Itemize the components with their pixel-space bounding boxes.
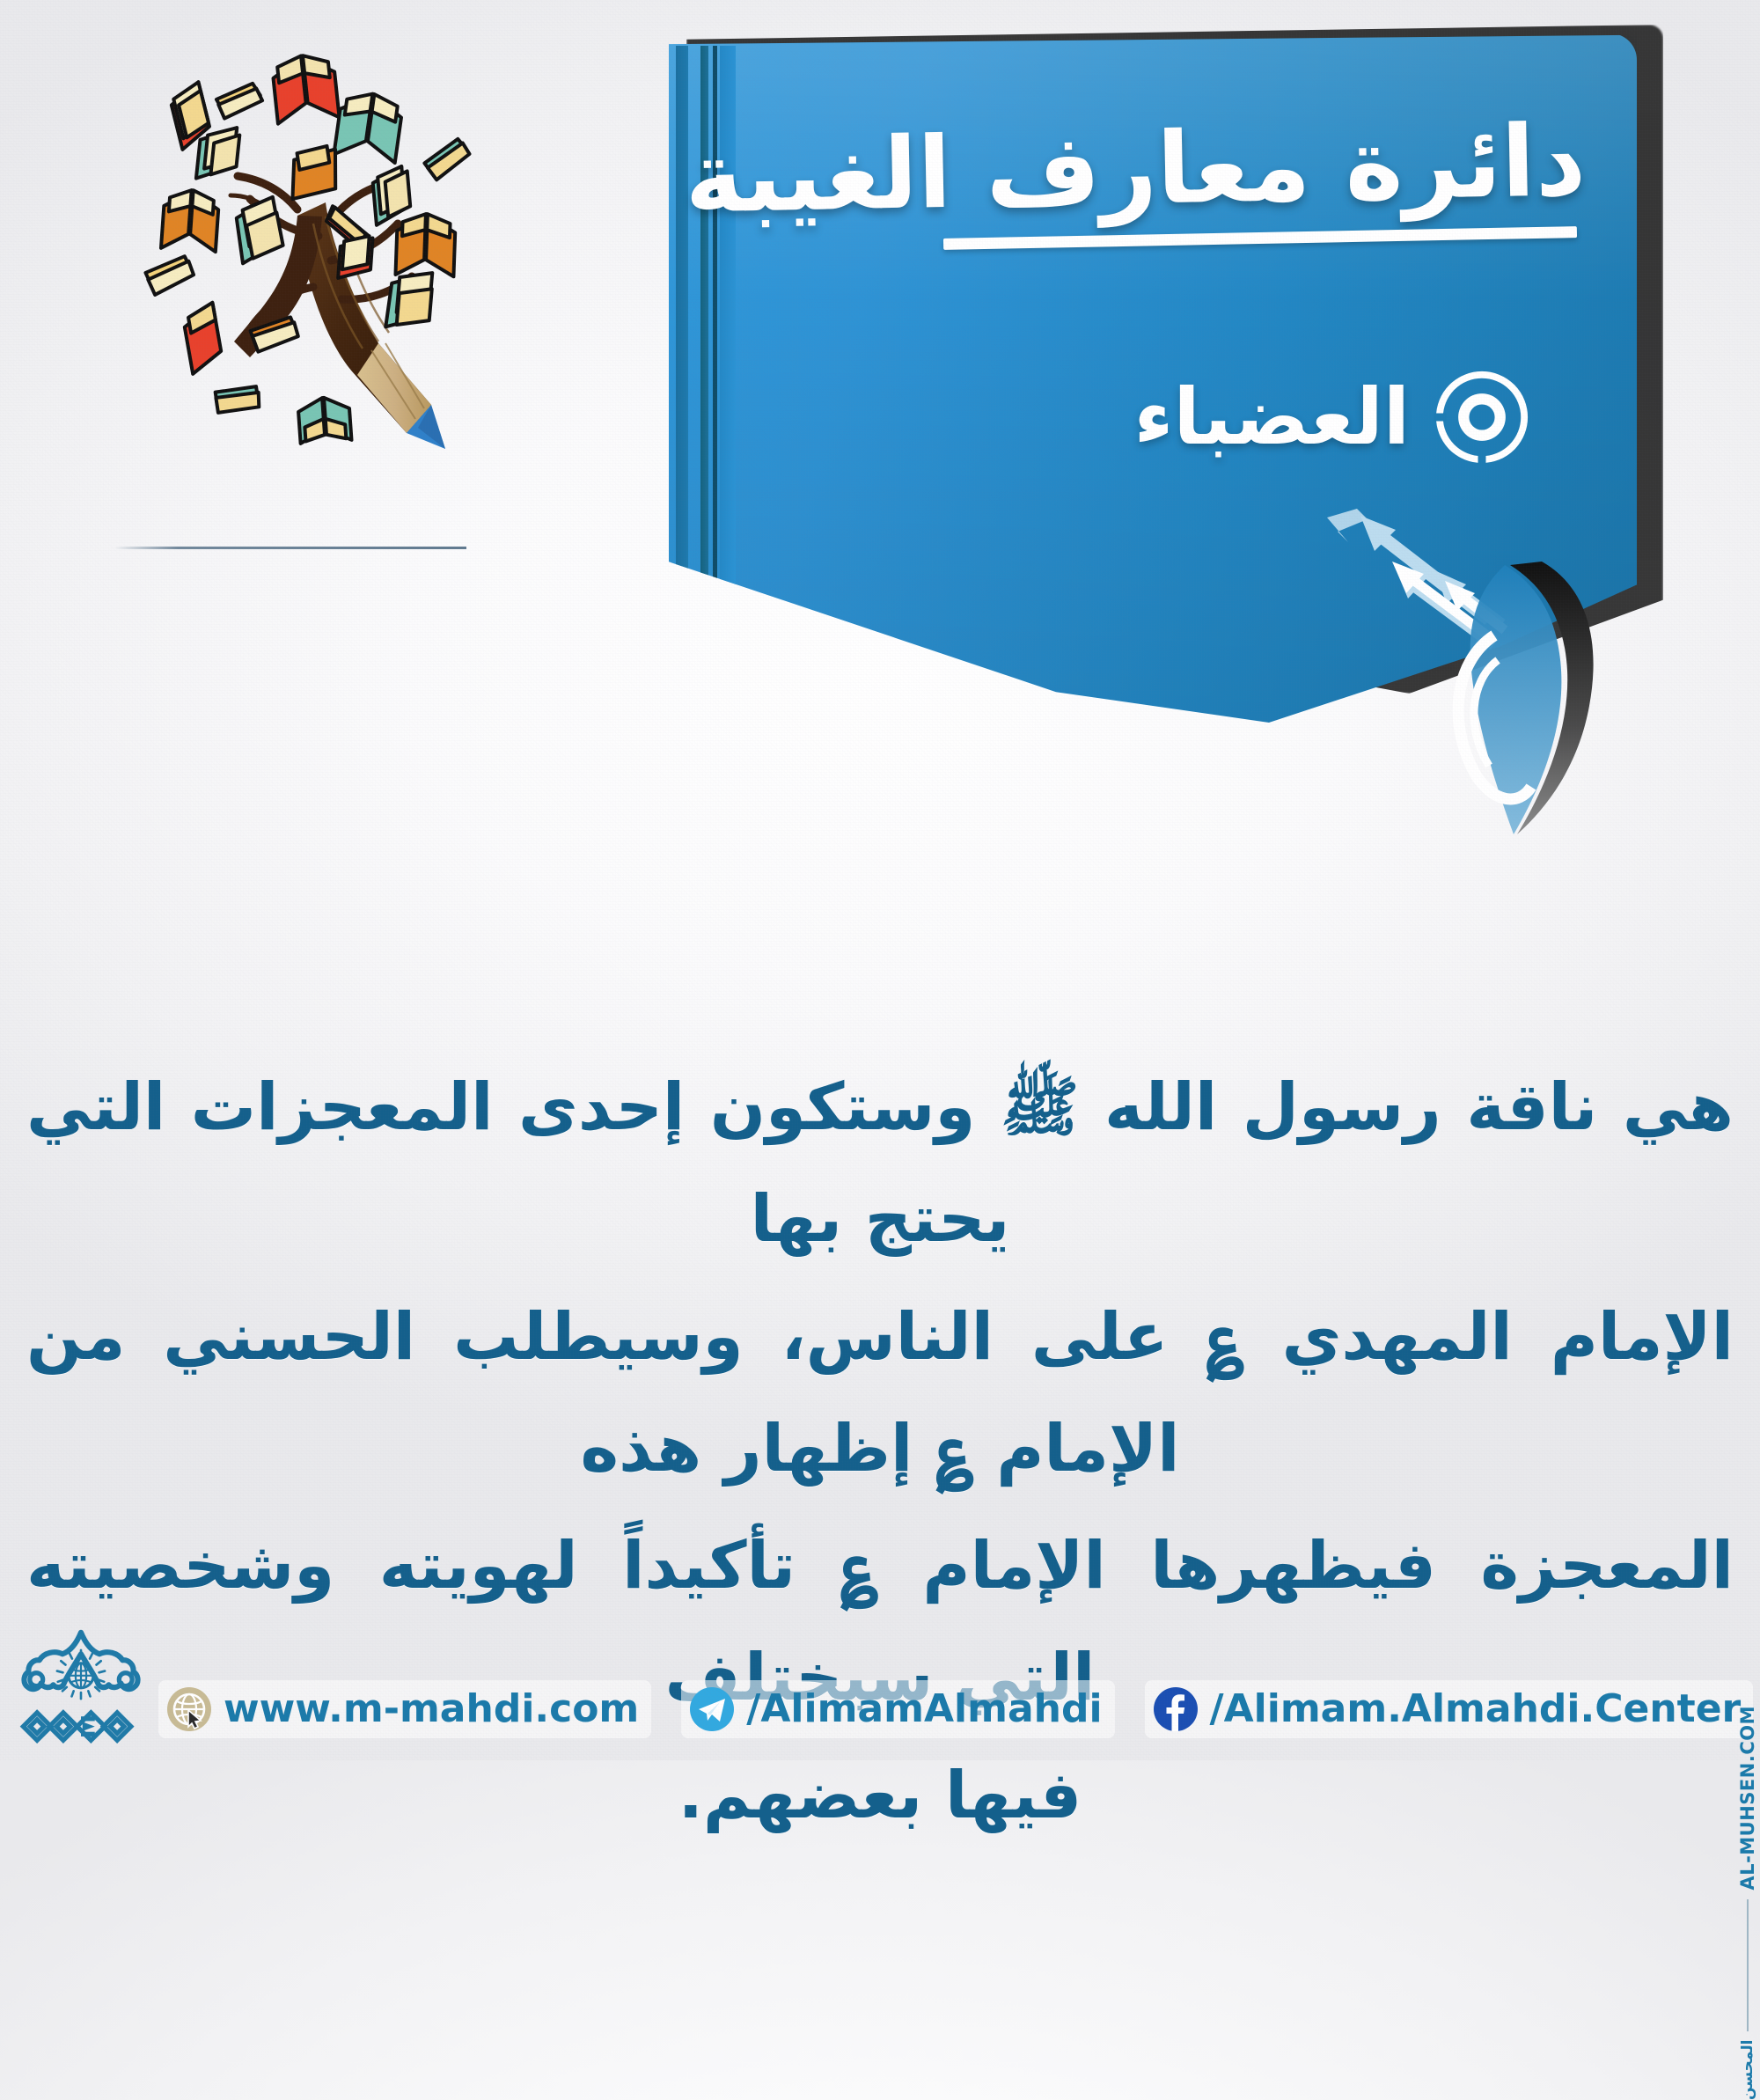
link-label: /AlimamAlmahdi	[746, 1690, 1102, 1729]
banner-subtitle: العضباء	[1133, 378, 1410, 456]
link-label: /Alimam.Almahdi.Center	[1210, 1690, 1742, 1729]
poster-canvas: دائرة معارف الغيبة العضباء	[0, 0, 1760, 1760]
subtitle-row: العضباء	[1133, 368, 1531, 466]
body-line: الإمام المهدي ؏ على الناس، وسيطلب الحسني…	[26, 1281, 1734, 1506]
arch-globe-kufic-logo	[19, 1628, 143, 1751]
header-banner: دائرة معارف الغيبة العضباء	[669, 9, 1707, 836]
link-telegram[interactable]: /AlimamAlmahdi	[681, 1680, 1114, 1738]
credit-divider	[1747, 1899, 1749, 2031]
arch-globe-kufic-logo	[405, 132, 968, 678]
link-facebook[interactable]: /Alimam.Almahdi.Center	[1145, 1680, 1754, 1738]
globe-cursor-icon	[165, 1685, 213, 1733]
social-links: www.m-mahdi.com /AlimamAlmahdi	[158, 1678, 1760, 1741]
body-line: هي ناقة رسول الله ﷺ وستكون إحدى المعجزات…	[26, 1052, 1734, 1276]
credit-site: AL-MUHSEN.COM	[1737, 1706, 1758, 1891]
circle-target-icon	[1433, 368, 1531, 466]
designer-credit: المحسن AL-MUHSEN.COM	[1737, 1706, 1758, 2100]
page-title: دائرة معارف الغيبة	[934, 112, 1587, 223]
footer-bar: www.m-mahdi.com /AlimamAlmahdi	[0, 1628, 1760, 1760]
credit-arabic: المحسن	[1739, 2040, 1756, 2100]
telegram-icon	[688, 1685, 736, 1733]
facebook-icon	[1152, 1685, 1199, 1733]
link-website[interactable]: www.m-mahdi.com	[158, 1680, 651, 1738]
link-label: www.m-mahdi.com	[224, 1690, 639, 1729]
page-curl-arrows-icon	[1322, 507, 1691, 841]
